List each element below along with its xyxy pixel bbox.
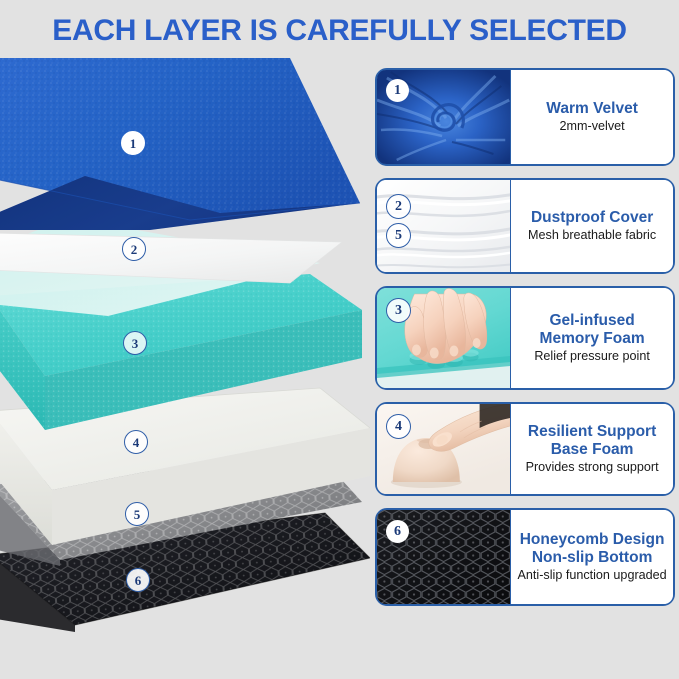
layer-1-shape xyxy=(0,58,360,230)
layer-badge-6: 6 xyxy=(126,568,150,592)
card-title-line: Non-slip Bottom xyxy=(532,549,653,567)
card-title-line: Warm Velvet xyxy=(546,100,638,118)
card-badge-1: 1 xyxy=(386,79,409,102)
card-badge-5: 5 xyxy=(386,223,411,248)
feature-card-list: Warm Velvet 2mm-velvet 1 xyxy=(375,68,675,618)
card-subtitle: Mesh breathable fabric xyxy=(528,228,656,243)
feature-card-gel-memory-foam[interactable]: Gel-infused Memory Foam Relief pressure … xyxy=(375,286,675,390)
card-text-dustproof: Dustproof Cover Mesh breathable fabric xyxy=(510,180,673,272)
layer-badge-4: 4 xyxy=(124,430,148,454)
card-subtitle: Relief pressure point xyxy=(534,349,650,364)
card-text-base-foam: Resilient Support Base Foam Provides str… xyxy=(510,404,673,494)
layer-stack-illustration: 1 2 3 4 5 6 xyxy=(0,58,370,668)
card-subtitle: Provides strong support xyxy=(526,460,659,475)
card-title-line: Gel-infused xyxy=(549,312,634,330)
feature-card-dustproof-cover[interactable]: Dustproof Cover Mesh breathable fabric 2… xyxy=(375,178,675,274)
card-text-velvet: Warm Velvet 2mm-velvet xyxy=(510,70,673,164)
card-subtitle: Anti-slip function upgraded xyxy=(518,568,667,583)
card-text-gel-foam: Gel-infused Memory Foam Relief pressure … xyxy=(510,288,673,388)
layer-badge-3: 3 xyxy=(123,331,147,355)
layer-badge-5: 5 xyxy=(125,502,149,526)
card-badge-6: 6 xyxy=(386,520,409,543)
feature-card-warm-velvet[interactable]: Warm Velvet 2mm-velvet 1 xyxy=(375,68,675,166)
page-title: EACH LAYER IS CAREFULLY SELECTED xyxy=(0,14,679,48)
card-text-honeycomb: Honeycomb Design Non-slip Bottom Anti-sl… xyxy=(510,510,673,604)
infographic-canvas: EACH LAYER IS CAREFULLY SELECTED xyxy=(0,0,679,679)
card-title-line: Memory Foam xyxy=(540,330,645,348)
layer-badge-2: 2 xyxy=(122,237,146,261)
feature-card-base-foam[interactable]: Resilient Support Base Foam Provides str… xyxy=(375,402,675,496)
card-subtitle: 2mm-velvet xyxy=(560,119,625,134)
card-title-line: Resilient Support xyxy=(528,423,656,441)
card-badge-2: 2 xyxy=(386,194,411,219)
card-title-line: Honeycomb Design xyxy=(520,531,665,549)
feature-card-honeycomb-bottom[interactable]: Honeycomb Design Non-slip Bottom Anti-sl… xyxy=(375,508,675,606)
card-badge-3: 3 xyxy=(386,298,411,323)
card-badge-4: 4 xyxy=(386,414,411,439)
layer-badge-1: 1 xyxy=(121,131,145,155)
card-title-line: Dustproof Cover xyxy=(531,209,653,227)
card-title-line: Base Foam xyxy=(551,441,634,459)
